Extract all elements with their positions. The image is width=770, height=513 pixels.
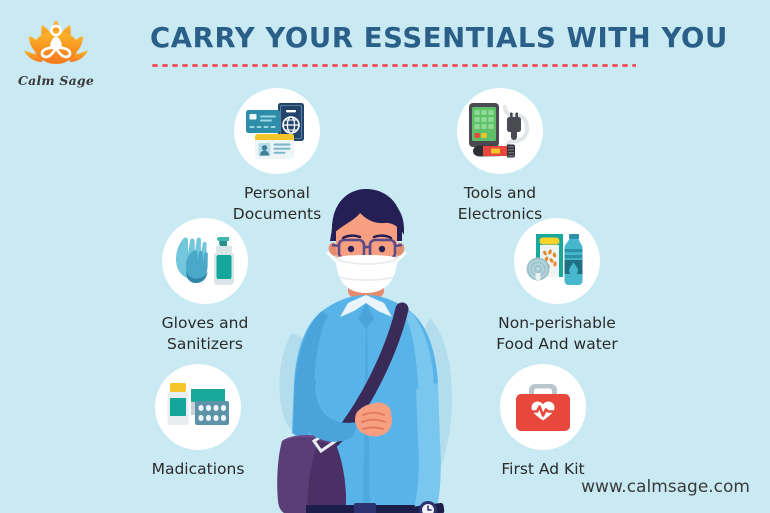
documents-icon — [244, 99, 310, 163]
icon-bubble — [457, 88, 543, 174]
essential-item-medications[interactable]: Madications — [113, 364, 283, 480]
first-aid-kit-icon — [512, 380, 574, 434]
medications-icon — [165, 379, 231, 435]
man-with-mask-illustration — [262, 183, 472, 513]
icon-bubble — [162, 218, 248, 304]
item-label-line1: Tools and — [464, 184, 536, 202]
dotted-divider — [150, 63, 636, 68]
item-label-line1: Madications — [152, 460, 245, 478]
icon-bubble — [514, 218, 600, 304]
title-block: CARRY YOUR ESSENTIALS WITH YOU — [150, 22, 636, 68]
lotus-meditation-icon — [20, 14, 92, 72]
item-label-line2: Food And water — [496, 335, 617, 353]
brand-name: Calm Sage — [16, 73, 96, 88]
item-label-line1: First Ad Kit — [501, 460, 584, 478]
gloves-sanitizer-icon — [172, 229, 238, 293]
item-label-line2: Sanitizers — [167, 335, 243, 353]
icon-bubble — [500, 364, 586, 450]
infographic-poster: Calm Sage CARRY YOUR ESSENTIALS WITH YOU — [0, 0, 770, 513]
item-label-line1: Gloves and — [162, 314, 249, 332]
brand-logo[interactable]: Calm Sage — [16, 14, 96, 88]
item-label-line1: Non-perishable — [498, 314, 616, 332]
electronics-icon — [467, 99, 533, 163]
icon-bubble — [155, 364, 241, 450]
essential-item-food-water[interactable]: Non-perishable Food And water — [472, 218, 642, 356]
essential-item-label: Madications — [113, 459, 283, 480]
icon-bubble — [234, 88, 320, 174]
page-title: CARRY YOUR ESSENTIALS WITH YOU — [150, 22, 636, 54]
food-water-icon — [524, 229, 590, 293]
essential-item-label: Non-perishable Food And water — [472, 313, 642, 356]
essential-item-first-aid[interactable]: First Ad Kit — [458, 364, 628, 480]
website-url[interactable]: www.calmsage.com — [581, 477, 750, 497]
